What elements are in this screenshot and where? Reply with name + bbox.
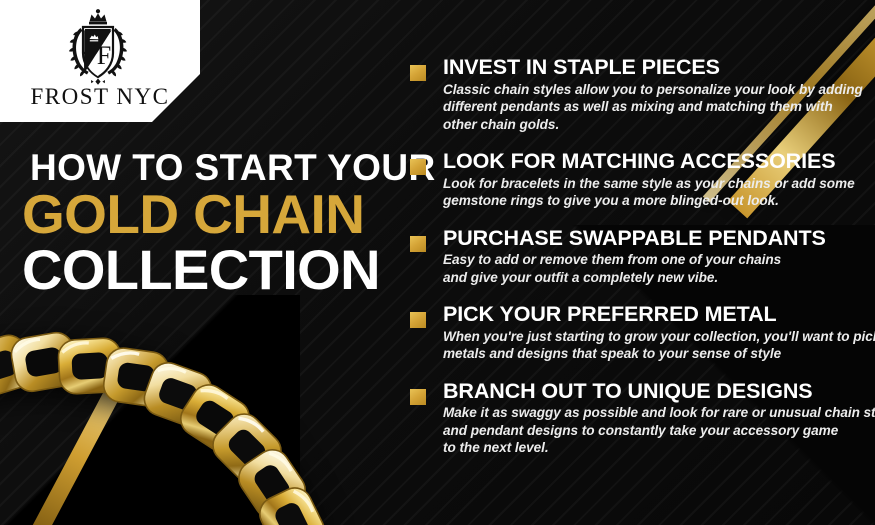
- bullet-square-icon: [410, 312, 426, 328]
- tip-body: Make it as swaggy as possible and look f…: [443, 404, 865, 456]
- tip-body-line: to the next level.: [443, 439, 865, 456]
- tip-body: Easy to add or remove them from one of y…: [443, 251, 865, 286]
- tip-body: When you're just starting to grow your c…: [443, 328, 865, 363]
- tip-body-line: Look for bracelets in the same style as …: [443, 175, 865, 192]
- tip-title: PICK YOUR PREFERRED METAL: [443, 303, 865, 326]
- list-item: INVEST IN STAPLE PIECES Classic chain st…: [410, 56, 865, 133]
- tip-body-line: gemstone rings to give you a more blinge…: [443, 192, 865, 209]
- list-item: LOOK FOR MATCHING ACCESSORIES Look for b…: [410, 150, 865, 210]
- headline-line-1: HOW TO START YOUR: [22, 150, 402, 186]
- list-item: BRANCH OUT TO UNIQUE DESIGNS Make it as …: [410, 380, 865, 457]
- list-item: PURCHASE SWAPPABLE PENDANTS Easy to add …: [410, 227, 865, 287]
- crest-letter: F: [97, 41, 111, 70]
- tips-list: INVEST IN STAPLE PIECES Classic chain st…: [410, 56, 865, 474]
- tip-body-line: and give your outfit a completely new vi…: [443, 269, 865, 286]
- tip-body-line: Make it as swaggy as possible and look f…: [443, 404, 865, 421]
- list-item: PICK YOUR PREFERRED METAL When you're ju…: [410, 303, 865, 363]
- tip-title: PURCHASE SWAPPABLE PENDANTS: [443, 227, 865, 250]
- tip-body: Classic chain styles allow you to person…: [443, 81, 865, 133]
- tip-body-line: When you're just starting to grow your c…: [443, 328, 865, 345]
- crest-shield-icon: F: [62, 8, 134, 86]
- tip-body-line: and pendant designs to constantly take y…: [443, 422, 865, 439]
- headline-line-3: COLLECTION: [22, 243, 402, 297]
- bullet-square-icon: [410, 236, 426, 252]
- tip-body-line: other chain golds.: [443, 116, 865, 133]
- tip-title: INVEST IN STAPLE PIECES: [443, 56, 865, 79]
- tip-body-line: different pendants as well as mixing and…: [443, 98, 865, 115]
- tip-body: Look for bracelets in the same style as …: [443, 175, 865, 210]
- bullet-square-icon: [410, 159, 426, 175]
- tip-title: LOOK FOR MATCHING ACCESSORIES: [443, 150, 865, 173]
- tip-body-line: metals and designs that speak to your se…: [443, 345, 865, 362]
- page-title: HOW TO START YOUR GOLD CHAIN COLLECTION: [22, 150, 402, 298]
- headline-line-2-gold: GOLD CHAIN: [22, 188, 402, 241]
- tip-body-line: Easy to add or remove them from one of y…: [443, 251, 865, 268]
- infographic-canvas: F FROST NYC HOW TO START YOUR GOLD CHAIN…: [0, 0, 875, 525]
- tip-title: BRANCH OUT TO UNIQUE DESIGNS: [443, 380, 865, 403]
- brand-logo-panel: F FROST NYC: [0, 0, 200, 122]
- bullet-square-icon: [410, 389, 426, 405]
- gold-cuban-chain-image: [0, 326, 392, 525]
- tip-body-line: Classic chain styles allow you to person…: [443, 81, 865, 98]
- bullet-square-icon: [410, 65, 426, 81]
